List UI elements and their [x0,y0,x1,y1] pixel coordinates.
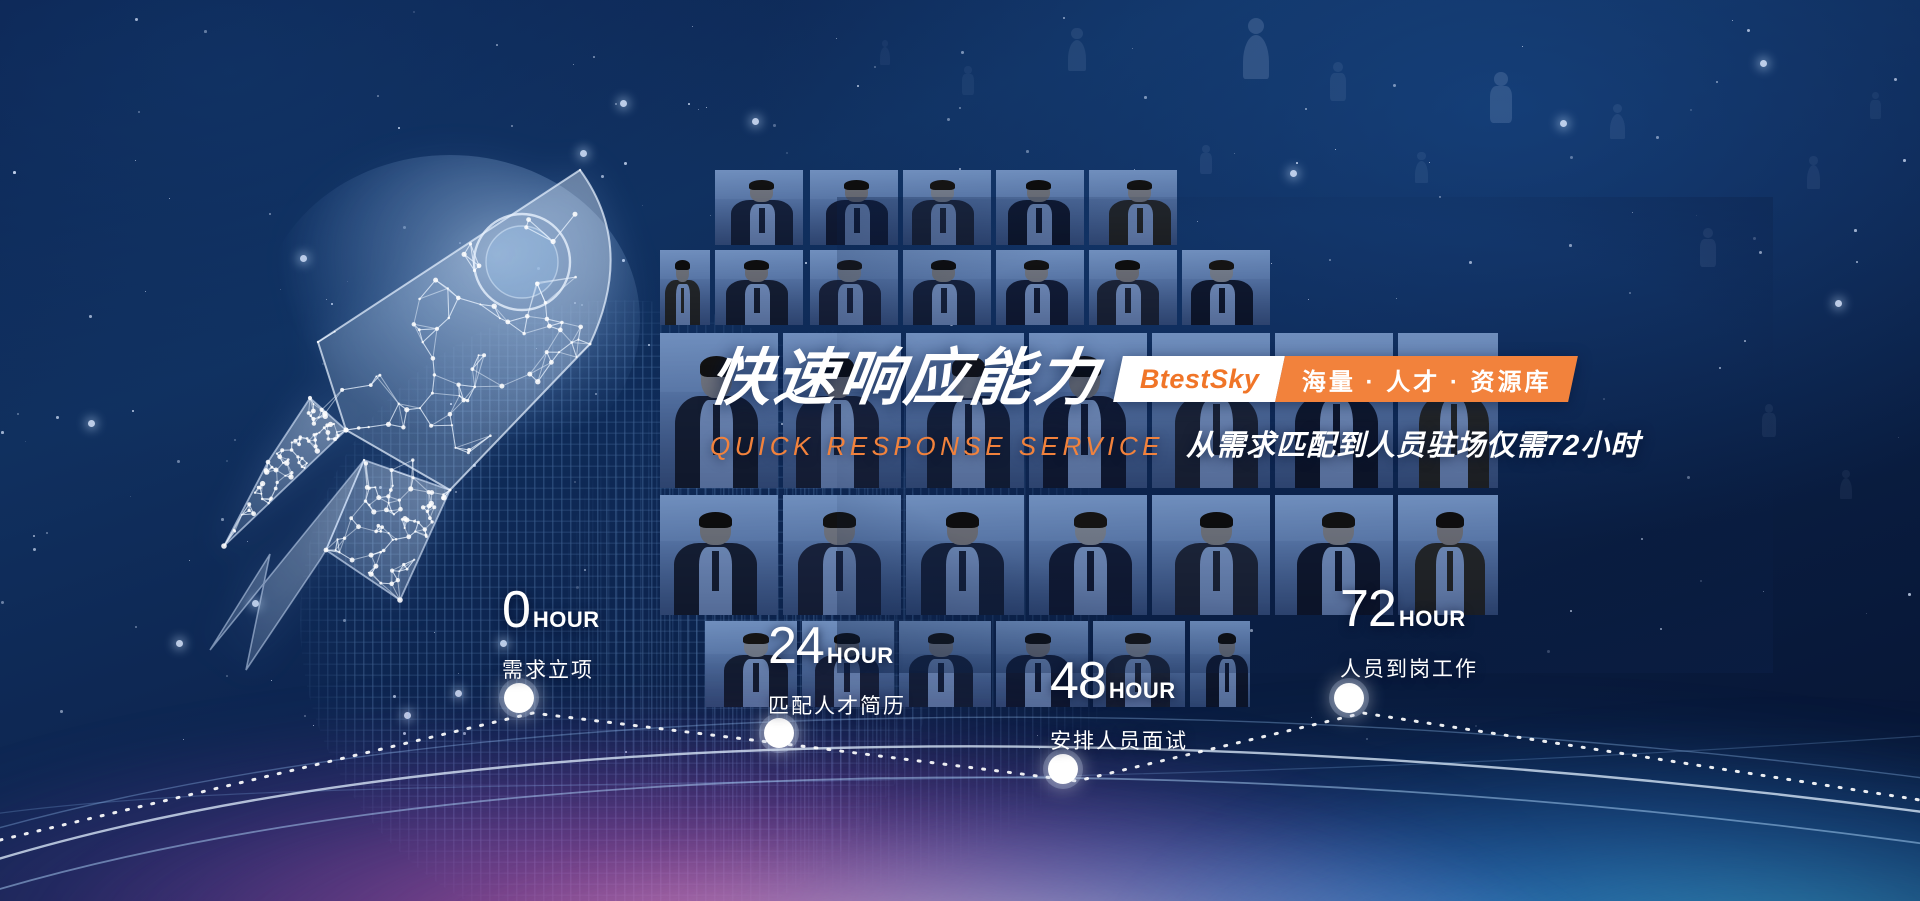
timeline-step-unit: HOUR [827,643,894,669]
timeline-step-value-row: 24HOUR [768,620,906,672]
timeline-step-unit: HOUR [1109,678,1176,704]
timeline-dot[interactable] [1334,683,1364,713]
timeline-step-value-row: 48HOUR [1050,655,1188,707]
timeline-step: 24HOUR匹配人才简历 [768,620,906,720]
process-timeline: 0HOUR需求立项24HOUR匹配人才简历48HOUR安排人员面试72HOUR人… [0,0,1920,901]
timeline-step-unit: HOUR [533,607,600,633]
timeline-step: 0HOUR需求立项 [502,584,600,684]
timeline-dot[interactable] [1048,754,1078,784]
timeline-step-value: 24 [768,620,824,672]
hero-banner: 快速响应能力 BtestSky 海量 · 人才 · 资源库 QUICK RESP… [0,0,1920,901]
timeline-connector-lines [0,0,1920,901]
timeline-step-value: 72 [1340,583,1396,635]
timeline-step: 48HOUR安排人员面试 [1050,655,1188,755]
timeline-step-desc: 需求立项 [502,654,600,684]
timeline-step-desc: 人员到岗工作 [1340,653,1478,683]
timeline-step: 72HOUR人员到岗工作 [1340,583,1478,683]
timeline-dot[interactable] [504,683,534,713]
timeline-step-value-row: 0HOUR [502,584,600,636]
timeline-step-desc: 匹配人才简历 [768,690,906,720]
timeline-dot[interactable] [764,718,794,748]
timeline-step-value-row: 72HOUR [1340,583,1478,635]
timeline-step-value: 0 [502,584,530,636]
timeline-step-unit: HOUR [1399,606,1466,632]
timeline-step-desc: 安排人员面试 [1050,725,1188,755]
timeline-step-value: 48 [1050,655,1106,707]
